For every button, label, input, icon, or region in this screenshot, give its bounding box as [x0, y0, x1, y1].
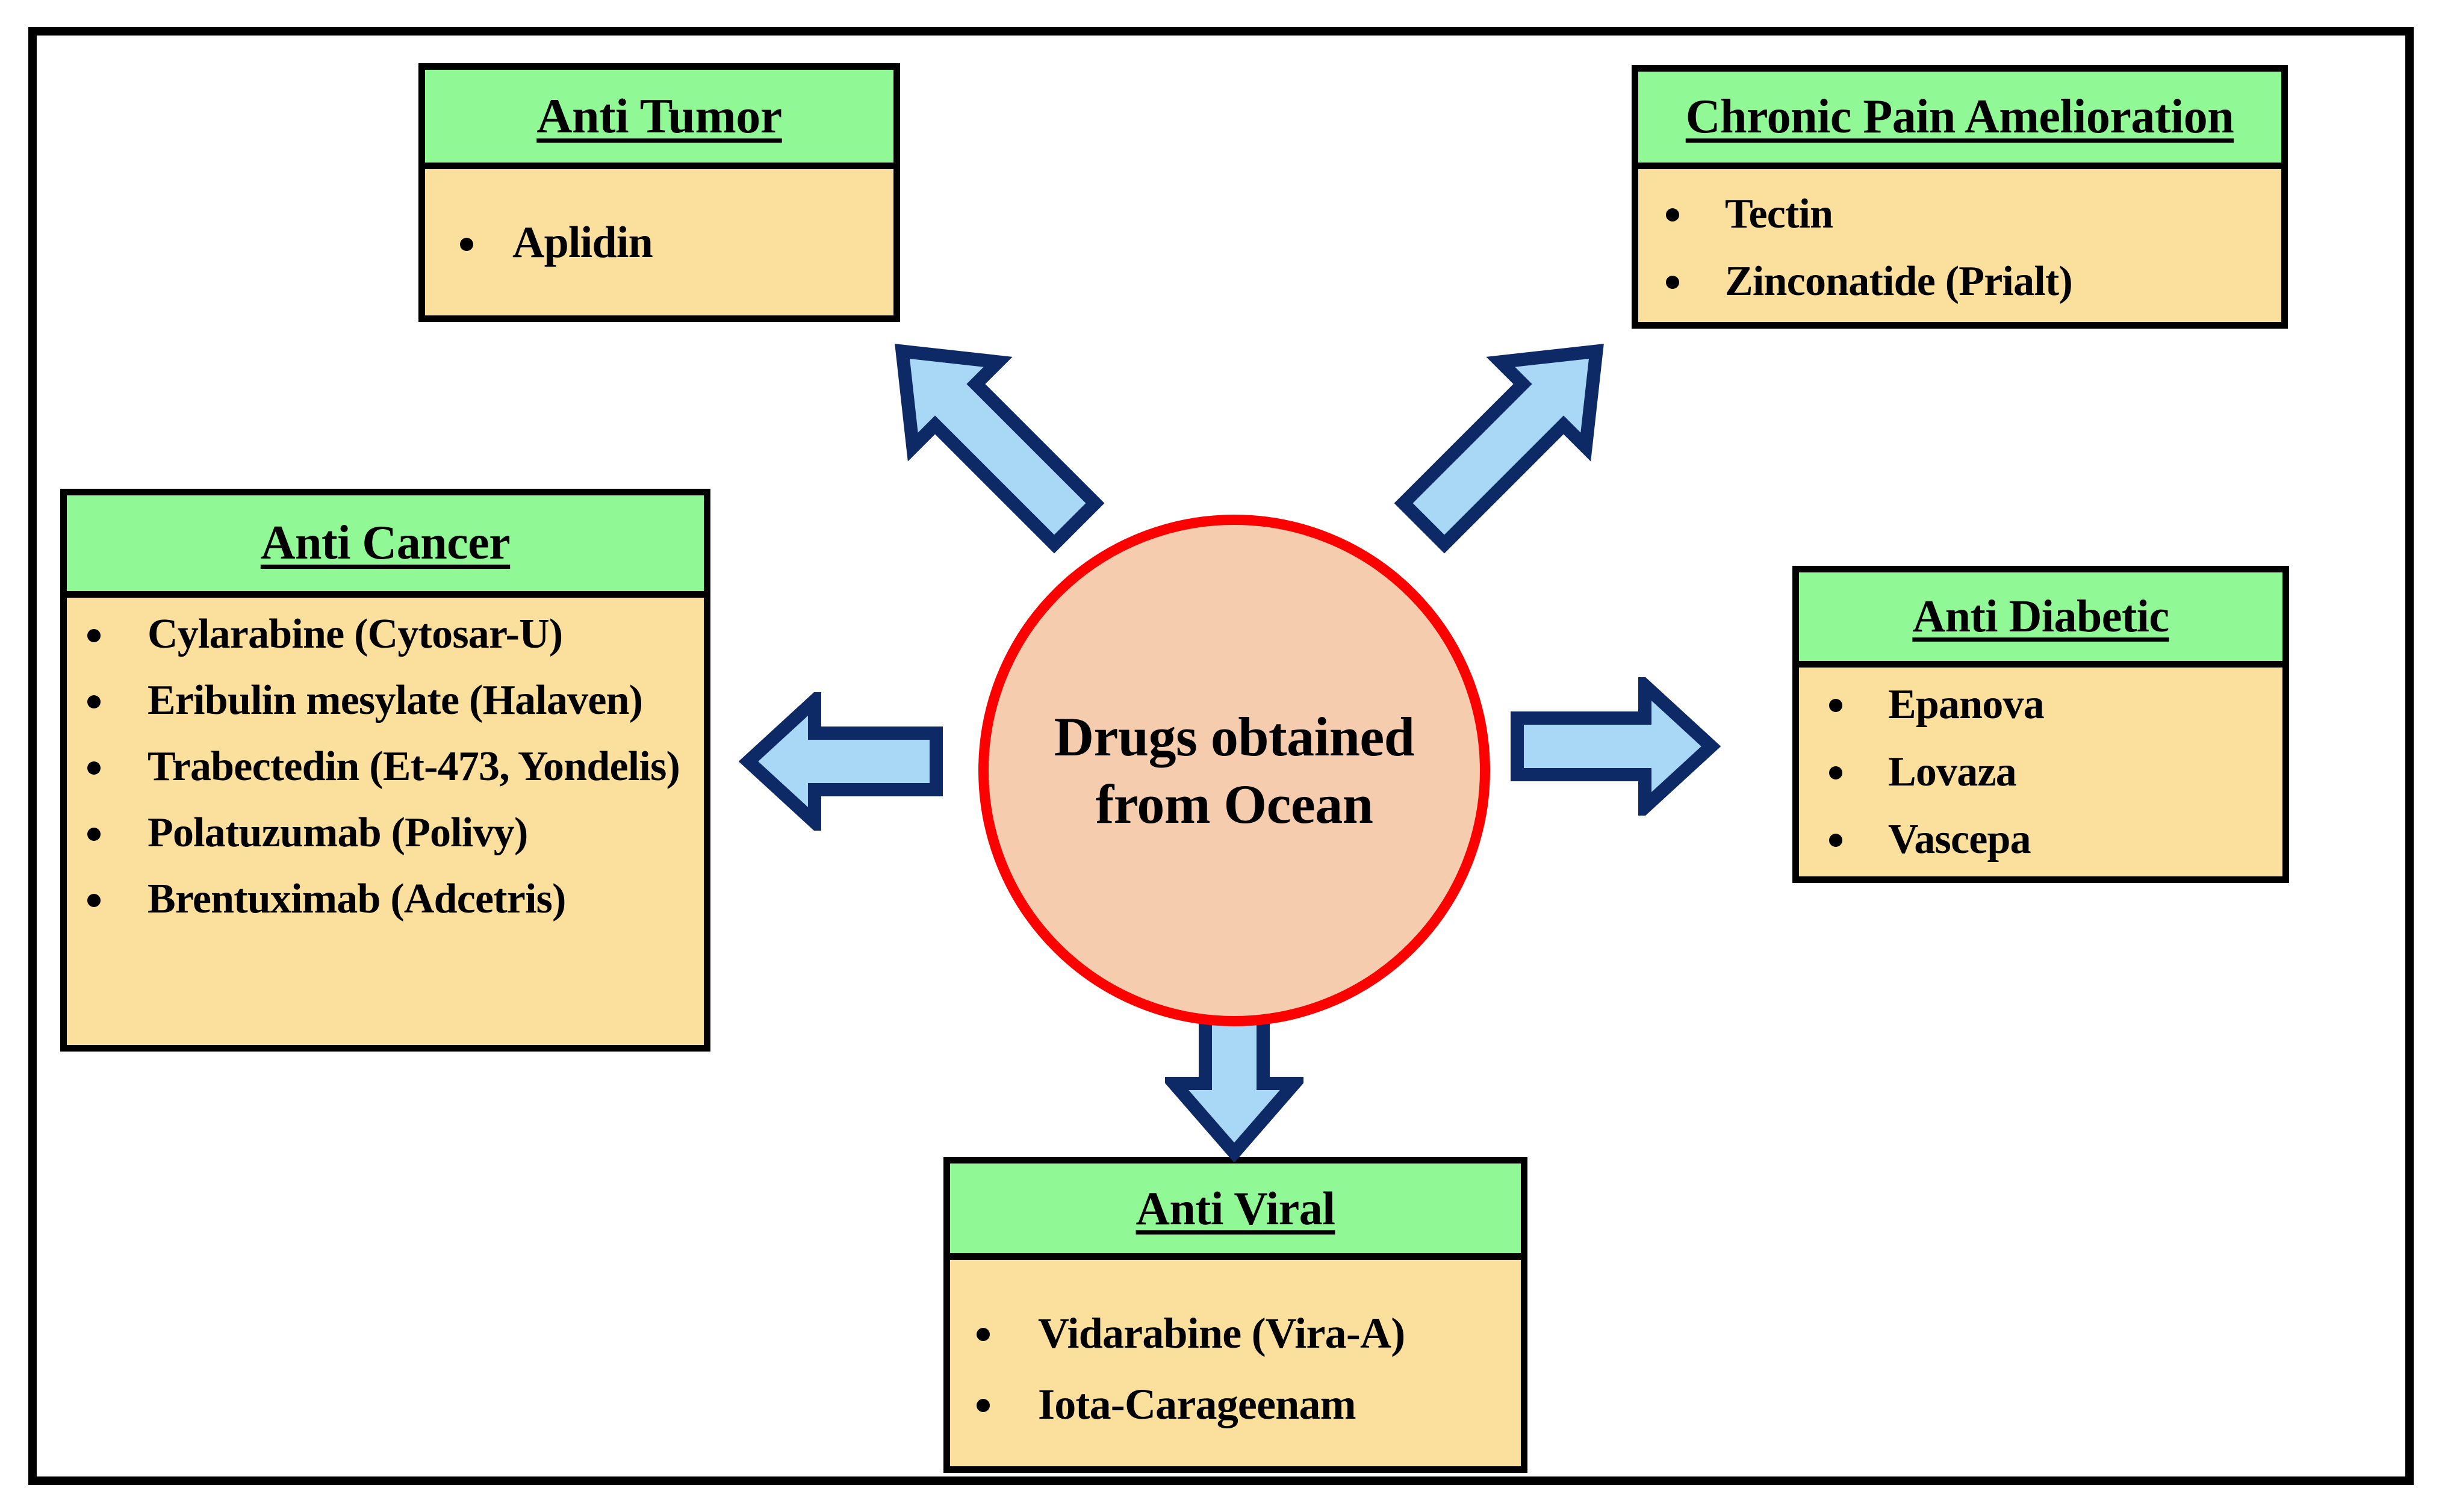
drug-name: Zinconatide (Prialt)	[1725, 258, 2072, 305]
list-item: Iota-Carageenam	[963, 1369, 1521, 1440]
list-item: Brentuximab (Adcetris)	[73, 866, 704, 932]
bullet-icon	[87, 761, 101, 775]
category-header-anti-tumor: Anti Tumor	[425, 70, 893, 169]
drug-name: Vascepa	[1888, 816, 2031, 863]
center-node-label: Drugs obtained from Ocean	[1054, 703, 1415, 838]
category-box-anti-cancer: Anti Cancer Cylarabine (Cytosar-U) Eribu…	[60, 489, 710, 1052]
category-box-chronic-pain: Chronic Pain Amelioration Tectin Zincona…	[1632, 65, 2288, 329]
category-title-anti-tumor: Anti Tumor	[536, 88, 781, 144]
category-title-anti-diabetic: Anti Diabetic	[1912, 590, 2169, 643]
bullet-icon	[1666, 208, 1679, 222]
drug-list-anti-diabetic: Epanova Lovaza Vascepa	[1799, 671, 2282, 873]
list-item: Cylarabine (Cytosar-U)	[73, 601, 704, 668]
category-header-anti-viral: Anti Viral	[950, 1163, 1521, 1260]
center-line-1: Drugs obtained	[1054, 706, 1415, 767]
list-item: Vidarabine (Vira-A)	[963, 1298, 1521, 1369]
bullet-icon	[977, 1328, 990, 1341]
drug-list-anti-cancer: Cylarabine (Cytosar-U) Eribulin mesylate…	[67, 601, 704, 932]
category-box-anti-tumor: Anti Tumor Aplidin	[418, 63, 900, 322]
drug-name: Tectin	[1725, 191, 1833, 237]
drug-name: Iota-Carageenam	[1038, 1380, 1356, 1428]
list-item: Vascepa	[1817, 806, 2282, 873]
list-item: Zinconatide (Prialt)	[1654, 248, 2281, 315]
drug-name: Brentuximab (Adcetris)	[148, 876, 566, 922]
list-item: Polatuzumab (Polivy)	[73, 800, 704, 866]
bullet-icon	[1829, 834, 1842, 847]
drug-list-chronic-pain: Tectin Zinconatide (Prialt)	[1638, 176, 2281, 315]
category-body-anti-diabetic: Epanova Lovaza Vascepa	[1799, 668, 2282, 876]
category-body-anti-tumor: Aplidin	[425, 169, 893, 315]
drug-name: Aplidin	[512, 218, 653, 267]
center-node: Drugs obtained from Ocean	[978, 515, 1490, 1026]
category-header-anti-cancer: Anti Cancer	[67, 495, 704, 598]
drug-name: Vidarabine (Vira-A)	[1038, 1309, 1405, 1357]
category-body-anti-cancer: Cylarabine (Cytosar-U) Eribulin mesylate…	[67, 598, 704, 1045]
list-item: Epanova	[1817, 671, 2282, 739]
arrow-left	[738, 692, 945, 831]
drug-name: Eribulin mesylate (Halaven)	[148, 677, 642, 723]
category-title-chronic-pain: Chronic Pain Amelioration	[1686, 90, 2234, 144]
drug-name: Polatuzumab (Polivy)	[148, 810, 527, 856]
category-title-anti-cancer: Anti Cancer	[261, 516, 510, 571]
bullet-icon	[1829, 766, 1842, 779]
arrow-right	[1505, 677, 1722, 816]
category-box-anti-viral: Anti Viral Vidarabine (Vira-A) Iota-Cara…	[943, 1157, 1527, 1473]
arrow-up-left	[861, 301, 1114, 572]
bullet-icon	[977, 1399, 990, 1412]
drug-name: Epanova	[1888, 681, 2044, 728]
bullet-icon	[1829, 699, 1842, 712]
list-item: Trabectedin (Et-473, Yondelis)	[73, 734, 704, 800]
drug-list-anti-viral: Vidarabine (Vira-A) Iota-Carageenam	[950, 1287, 1521, 1440]
diagram-canvas: Drugs obtained from Ocean Anti Tumor Apl…	[0, 0, 2442, 1512]
bullet-icon	[87, 894, 101, 907]
list-item: Eribulin mesylate (Halaven)	[73, 668, 704, 734]
list-item: Lovaza	[1817, 739, 2282, 806]
category-box-anti-diabetic: Anti Diabetic Epanova Lovaza Vascepa	[1792, 566, 2289, 883]
list-item: Tectin	[1654, 181, 2281, 248]
bullet-icon	[87, 695, 101, 708]
bullet-icon	[1666, 276, 1679, 289]
arrow-up-right	[1385, 301, 1638, 572]
bullet-icon	[87, 629, 101, 642]
category-body-anti-viral: Vidarabine (Vira-A) Iota-Carageenam	[950, 1260, 1521, 1466]
center-line-2: from Ocean	[1096, 773, 1373, 835]
drug-name: Lovaza	[1888, 749, 2016, 795]
bullet-icon	[460, 238, 473, 251]
category-header-chronic-pain: Chronic Pain Amelioration	[1638, 72, 2281, 169]
category-body-chronic-pain: Tectin Zinconatide (Prialt)	[1638, 169, 2281, 322]
category-title-anti-viral: Anti Viral	[1136, 1182, 1335, 1236]
drug-name: Cylarabine (Cytosar-U)	[148, 611, 562, 657]
bullet-icon	[87, 828, 101, 841]
category-header-anti-diabetic: Anti Diabetic	[1799, 572, 2282, 668]
list-item: Aplidin	[449, 212, 893, 273]
drug-name: Trabectedin (Et-473, Yondelis)	[148, 743, 680, 790]
drug-list-anti-tumor: Aplidin	[425, 212, 893, 273]
